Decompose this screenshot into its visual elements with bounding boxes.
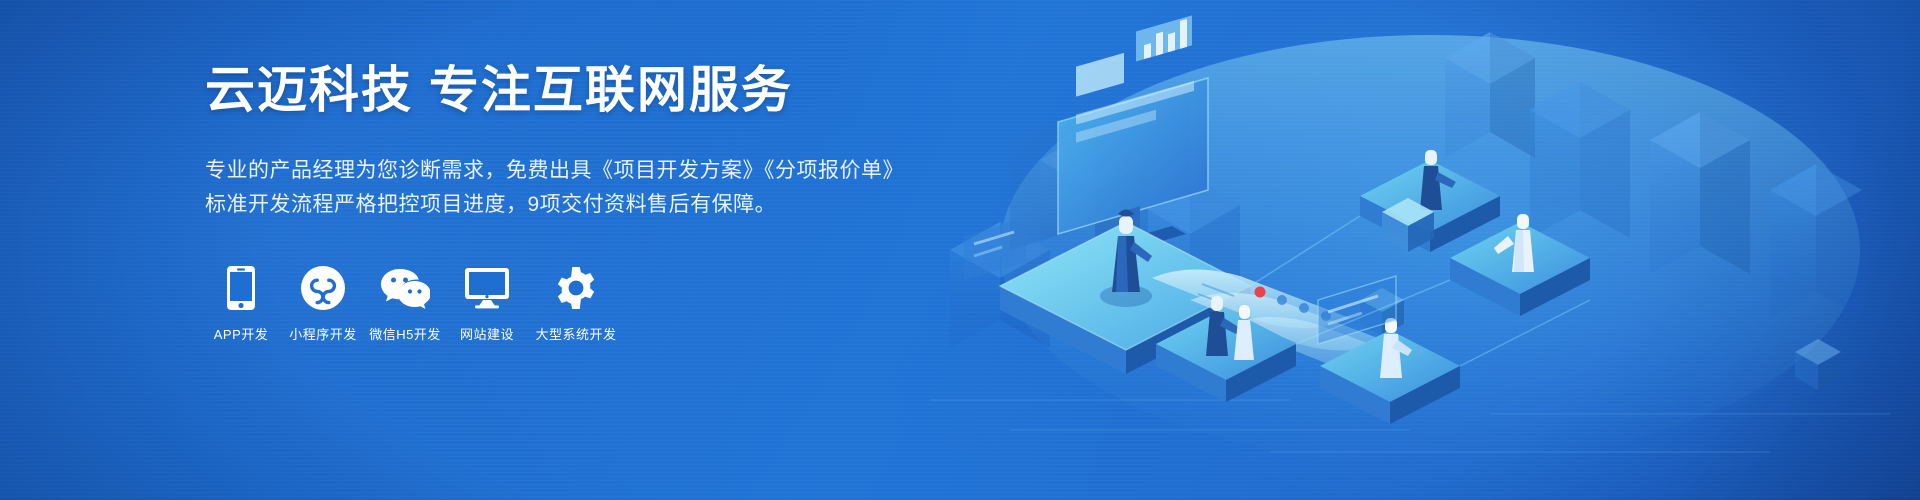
subtitle-block: 专业的产品经理为您诊断需求，免费出具《项目开发方案》《分项报价单》 标准开发流程… (205, 154, 945, 222)
hero-banner: 云迈科技 专注互联网服务 专业的产品经理为您诊断需求，免费出具《项目开发方案》《… (0, 0, 1920, 500)
mobile-phone-icon (205, 264, 277, 312)
subtitle-line-1: 专业的产品经理为您诊断需求，免费出具《项目开发方案》《分项报价单》 (205, 154, 945, 188)
service-label-wechat: 微信H5开发 (369, 327, 441, 342)
service-label-website: 网站建设 (460, 327, 514, 342)
wechat-icon (369, 264, 441, 312)
service-label-miniprogram: 小程序开发 (289, 327, 357, 342)
page-title: 云迈科技 专注互联网服务 (205, 60, 945, 120)
service-list: APP开发 小程序开发 (205, 264, 945, 344)
service-item-miniprogram[interactable]: 小程序开发 (287, 264, 359, 344)
banner-content: 云迈科技 专注互联网服务 专业的产品经理为您诊断需求，免费出具《项目开发方案》《… (205, 60, 945, 344)
service-label-app: APP开发 (214, 327, 269, 342)
service-label-system: 大型系统开发 (535, 327, 616, 342)
service-item-website[interactable]: 网站建设 (451, 264, 523, 344)
subtitle-line-2: 标准开发流程严格把控项目进度，9项交付资料售后有保障。 (205, 188, 945, 222)
service-item-system[interactable]: 大型系统开发 (533, 264, 619, 344)
gear-icon (533, 264, 619, 312)
mini-program-icon (287, 264, 359, 312)
illustration-isometric-tech (890, 0, 1920, 500)
service-item-app[interactable]: APP开发 (205, 264, 277, 344)
monitor-icon (451, 264, 523, 312)
service-item-wechat[interactable]: 微信H5开发 (369, 264, 441, 344)
